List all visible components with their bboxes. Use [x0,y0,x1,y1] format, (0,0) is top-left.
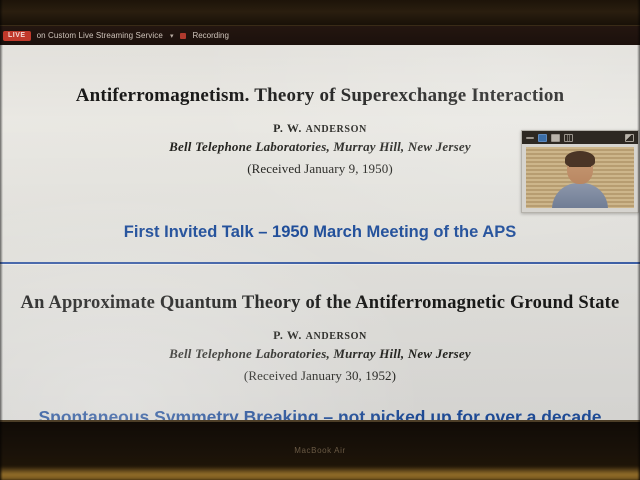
live-service-label: on Custom Live Streaming Service [37,31,163,40]
paper-2-title: An Approximate Quantum Theory of the Ant… [0,293,640,314]
glasses-icon [569,166,591,172]
laptop-screen: LIVE on Custom Live Streaming Service ▾ … [0,26,640,420]
laptop-photo: LIVE on Custom Live Streaming Service ▾ … [0,0,640,480]
paper-1-title: Antiferromagnetism. Theory of Superexcha… [0,85,640,107]
chevron-down-icon[interactable]: ▾ [170,32,174,40]
expand-view-icon[interactable] [625,134,634,142]
video-view-toolbar[interactable] [522,131,638,144]
paper-2-author: P. W. ANDERSON [0,328,640,343]
desk-reflection [0,466,640,480]
paper-2-author-initials: P. W. [273,328,306,342]
paper-2-received-row: (Received January 30, 1952) [0,368,640,384]
slide-divider [0,262,640,264]
live-stream-status-bar: LIVE on Custom Live Streaming Service ▾ … [0,26,640,45]
participant-body [552,183,608,208]
shared-slide: Antiferromagnetism. Theory of Superexcha… [0,45,640,420]
video-feed [526,147,634,208]
paper-2-annotation: Spontaneous Symmetry Breaking – not pick… [0,407,640,420]
paper-1-title-block: Antiferromagnetism. Theory of Superexcha… [0,85,640,107]
device-label: MacBook Air [0,446,640,455]
participant-hair [565,151,595,167]
paper-2-affiliation-row: Bell Telephone Laboratories, Murray Hill… [0,346,640,362]
participant-video-tile[interactable] [521,130,639,213]
paper-2-title-block: An Approximate Quantum Theory of the Ant… [0,293,640,314]
paper-1-annotation: First Invited Talk – 1950 March Meeting … [0,223,640,242]
live-badge: LIVE [3,31,31,41]
paper-2-author-surname: ANDERSON [306,331,367,342]
gallery-view-icon[interactable] [564,134,573,142]
minimize-icon[interactable] [526,137,534,139]
speaker-view-icon[interactable] [538,134,547,142]
split-view-icon[interactable] [551,134,560,142]
recording-label: Recording [192,31,228,40]
laptop-top-bezel [0,0,640,26]
paper-2-received: (Received January 30, 1952) [0,368,640,384]
paper-1-author-initials: P. W. [273,121,306,135]
paper-2-affiliation: Bell Telephone Laboratories, Murray Hill… [0,346,640,362]
recording-icon [180,33,186,39]
paper-1-author-surname: ANDERSON [306,124,367,135]
